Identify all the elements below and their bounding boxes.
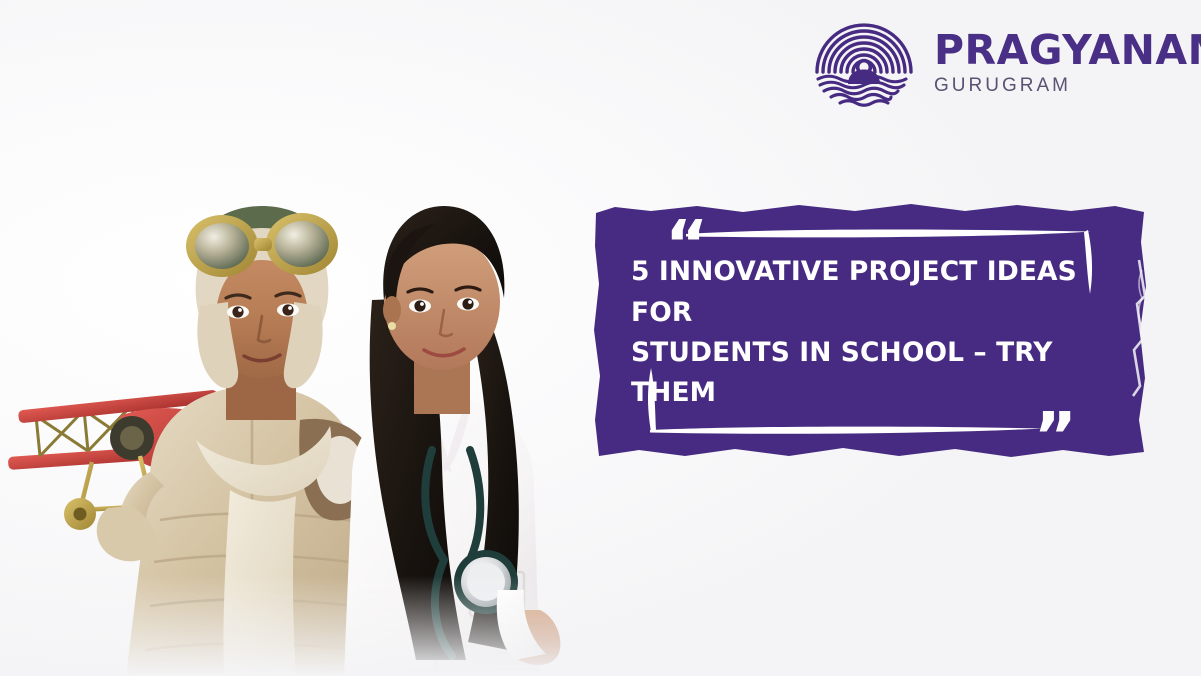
pragyanam-logo[interactable]: PRAGYANAM GURUGRAM bbox=[812, 16, 1184, 108]
headline-container: 5 INNOVATIVE PROJECT IDEAS FOR STUDENTS … bbox=[593, 200, 1147, 462]
children-professions-photo bbox=[0, 120, 600, 676]
headline-quote-card: “ ” 5 INNOVATIVE PROJECT IDEAS FOR STUDE… bbox=[593, 200, 1147, 462]
child-doctor bbox=[344, 206, 560, 676]
blog-banner: PRAGYANAM GURUGRAM bbox=[0, 0, 1201, 676]
logo-location: GURUGRAM bbox=[934, 76, 1201, 96]
page-title: 5 INNOVATIVE PROJECT IDEAS FOR STUDENTS … bbox=[631, 252, 1109, 413]
logo-wordmark: PRAGYANAM GURUGRAM bbox=[934, 28, 1201, 97]
logo-brand-name: PRAGYANAM bbox=[934, 30, 1201, 72]
pragyanam-sunrise-water-icon bbox=[812, 16, 916, 108]
